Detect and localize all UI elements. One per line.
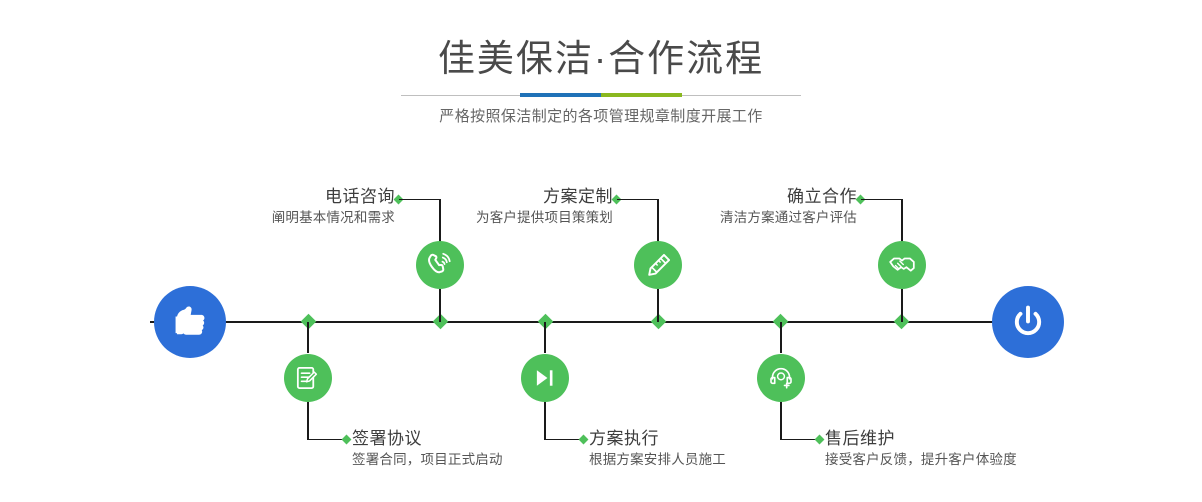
power-icon bbox=[1007, 301, 1049, 343]
connector-h-step-5 bbox=[861, 199, 902, 200]
label-dot-step-2 bbox=[342, 435, 352, 445]
connector-v-lower-step-5 bbox=[901, 289, 902, 322]
step-label-6: 售后维护 接受客户反馈，提升客户体验度 bbox=[825, 428, 1165, 470]
connector-h-step-4 bbox=[544, 439, 582, 440]
step-title-3: 方案定制 bbox=[345, 186, 613, 208]
divider-segment-blue bbox=[520, 93, 601, 97]
step-desc-6: 接受客户反馈，提升客户体验度 bbox=[825, 450, 1165, 470]
page-title: 佳美保洁·合作流程 bbox=[0, 36, 1202, 82]
step-icon-6[interactable] bbox=[757, 354, 805, 402]
divider-segment-green bbox=[601, 93, 682, 97]
step-desc-5: 清洁方案通过客户评估 bbox=[590, 208, 857, 228]
play-execute-icon bbox=[532, 365, 558, 391]
step-icon-4[interactable] bbox=[521, 354, 569, 402]
title-divider bbox=[401, 93, 801, 97]
connector-v-lower-step-6 bbox=[780, 402, 781, 440]
connector-h-step-2 bbox=[307, 439, 345, 440]
handshake-icon bbox=[888, 251, 916, 279]
page-subtitle: 严格按照保洁制定的各项管理规章制度开展工作 bbox=[0, 106, 1202, 128]
step-icon-5[interactable] bbox=[878, 241, 926, 289]
step-label-5: 确立合作 清洁方案通过客户评估 bbox=[590, 186, 857, 228]
connector-v-upper-step-2 bbox=[307, 322, 308, 353]
connector-h-step-6 bbox=[780, 439, 818, 440]
pointing-hand-icon bbox=[168, 300, 212, 344]
connector-v-upper-step-4 bbox=[544, 322, 545, 353]
step-label-3: 方案定制 为客户提供项目策策划 bbox=[345, 186, 613, 228]
pencil-ruler-icon bbox=[645, 252, 672, 279]
step-icon-1[interactable] bbox=[416, 241, 464, 289]
document-edit-icon bbox=[295, 365, 321, 391]
step-title-5: 确立合作 bbox=[590, 186, 857, 208]
start-endpoint bbox=[154, 286, 226, 358]
connector-v-upper-step-6 bbox=[780, 322, 781, 353]
connector-v-lower-step-4 bbox=[544, 402, 545, 440]
step-title-6: 售后维护 bbox=[825, 428, 1165, 450]
end-endpoint bbox=[992, 286, 1064, 358]
phone-call-icon bbox=[426, 251, 454, 279]
headset-support-icon bbox=[768, 365, 794, 391]
step-icon-2[interactable] bbox=[284, 354, 332, 402]
connector-v-lower-step-1 bbox=[439, 289, 440, 322]
cooperation-process-infographic: 佳美保洁·合作流程 严格按照保洁制定的各项管理规章制度开展工作 bbox=[0, 0, 1202, 502]
timeline-axis bbox=[150, 321, 1050, 323]
connector-v-upper-step-5 bbox=[901, 199, 902, 242]
connector-v-lower-step-2 bbox=[307, 402, 308, 440]
step-desc-3: 为客户提供项目策策划 bbox=[345, 208, 613, 228]
step-icon-3[interactable] bbox=[634, 241, 682, 289]
connector-v-lower-step-3 bbox=[657, 289, 658, 322]
